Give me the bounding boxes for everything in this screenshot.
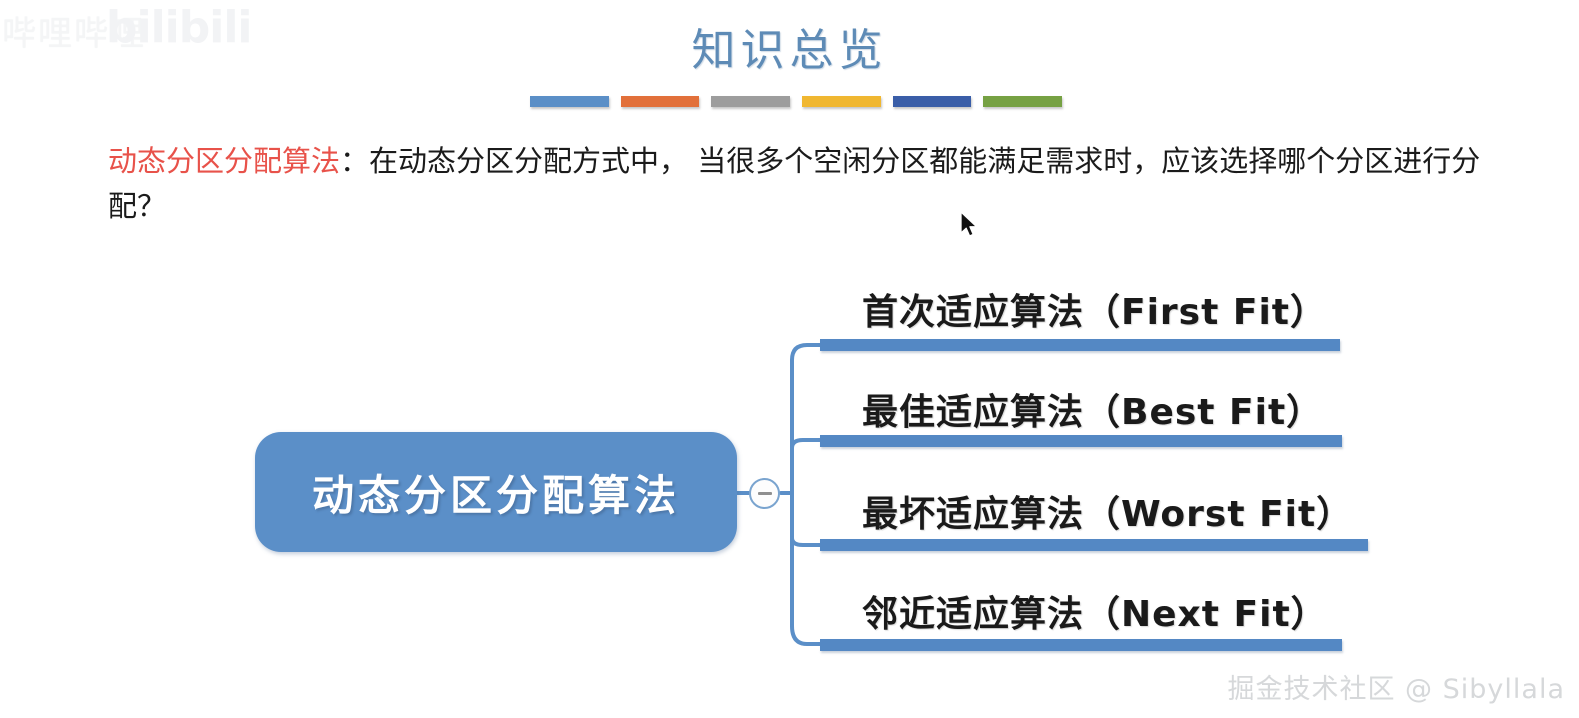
accent-bar-yellow	[802, 96, 881, 107]
mindmap-branch-best-fit[interactable]: 最佳适应算法（Best Fit）	[862, 383, 1382, 457]
branch-underline	[820, 539, 1368, 551]
accent-bar-dark-blue	[893, 96, 972, 107]
accent-bar-gray	[711, 96, 790, 107]
accent-bar-blue	[530, 96, 609, 107]
mindmap-branch-worst-fit[interactable]: 最坏适应算法（Worst Fit）	[862, 485, 1410, 559]
mindmap-root-label: 动态分区分配算法	[312, 462, 680, 523]
branch-underline	[820, 639, 1342, 651]
mindmap-root-node[interactable]: 动态分区分配算法	[255, 432, 737, 552]
minus-icon	[758, 492, 772, 495]
accent-bar-orange	[621, 96, 700, 107]
branch-label: 最佳适应算法（Best Fit）	[862, 383, 1323, 435]
community-watermark: 掘金技术社区 @ Sibyllala	[1227, 667, 1565, 706]
branch-label: 首次适应算法（First Fit）	[862, 283, 1327, 335]
collapse-toggle-button[interactable]	[749, 478, 780, 509]
mindmap-branch-next-fit[interactable]: 邻近适应算法（Next Fit）	[862, 585, 1384, 659]
mouse-cursor-icon	[960, 211, 980, 241]
body-paragraph: 动态分区分配算法：在动态分区分配方式中， 当很多个空闲分区都能满足需求时，应该选…	[108, 139, 1528, 229]
branch-underline	[820, 339, 1340, 351]
branch-label: 邻近适应算法（Next Fit）	[862, 585, 1328, 637]
paragraph-keyword: 动态分区分配算法	[108, 144, 340, 178]
page-title: 知识总览	[0, 14, 1579, 78]
branch-underline	[820, 435, 1342, 447]
accent-bar-green	[983, 96, 1062, 107]
accent-bar-row	[530, 96, 1062, 108]
slide-canvas: 哔哩哔哩 bilibili 知识总览 动态分区分配算法：在动态分区分配方式中， …	[0, 0, 1579, 718]
branch-label: 最坏适应算法（Worst Fit）	[862, 485, 1353, 537]
mindmap-branch-first-fit[interactable]: 首次适应算法（First Fit）	[862, 283, 1382, 357]
